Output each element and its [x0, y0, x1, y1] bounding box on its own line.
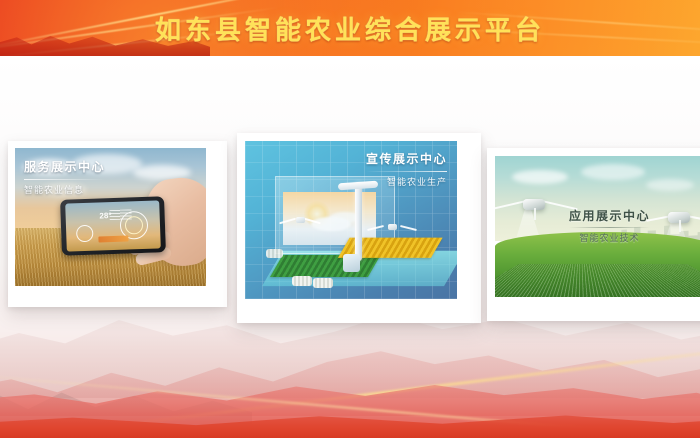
- card-publicity[interactable]: 宣传展示中心 智能农业生产: [237, 133, 481, 323]
- caption-divider: [569, 227, 650, 228]
- phone-screen: 28°: [65, 200, 161, 251]
- card-application-title: 应用展示中心: [569, 210, 650, 224]
- card-application-image: 应用展示中心 智能农业技术: [495, 156, 700, 297]
- drone-body: [388, 224, 397, 230]
- card-application-subtitle: 智能农业技术: [569, 231, 650, 244]
- card-service-subtitle: 智能农业信息: [24, 183, 105, 196]
- header-banner: 如东县智能农业综合展示平台: [0, 0, 700, 56]
- hay-bale: [266, 249, 283, 258]
- hud-chip: [98, 235, 128, 242]
- hud-temperature: 28°: [99, 210, 111, 219]
- drone-icon: [287, 214, 313, 226]
- caption-divider: [24, 179, 105, 180]
- page-title: 如东县智能农业综合展示平台: [0, 0, 700, 56]
- caption-divider: [366, 171, 447, 172]
- card-publicity-title: 宣传展示中心: [366, 153, 447, 167]
- drone-icon: [376, 220, 408, 234]
- water-tank: [343, 254, 360, 272]
- drone-leg: [679, 220, 681, 232]
- card-service[interactable]: 28° 服务展示中心 智能农业信息: [8, 141, 227, 307]
- irrigation-pole: [355, 182, 362, 261]
- card-application-caption: 应用展示中心 智能农业技术: [569, 210, 650, 245]
- card-service-image: 28° 服务展示中心 智能农业信息: [15, 148, 206, 286]
- hud-bars-icon: [109, 209, 131, 220]
- card-application[interactable]: 应用展示中心 智能农业技术: [487, 148, 700, 321]
- crop-row-green: [270, 255, 380, 277]
- card-service-caption: 服务展示中心 智能农业信息: [24, 161, 105, 196]
- drone-body: [296, 217, 305, 223]
- presentation-stage: 如东县智能农业综合展示平台 28°: [0, 0, 700, 438]
- card-publicity-subtitle: 智能农业生产: [366, 175, 447, 188]
- drone-leg: [534, 208, 536, 220]
- hud-ring-small-icon: [76, 224, 94, 242]
- card-service-title: 服务展示中心: [24, 161, 105, 175]
- hay-bale: [292, 276, 312, 286]
- cloud-icon: [646, 179, 694, 191]
- card-publicity-caption: 宣传展示中心 智能农业生产: [366, 153, 447, 188]
- drone-icon: [656, 204, 700, 230]
- drone-icon: [504, 187, 564, 221]
- card-publicity-image: 宣传展示中心 智能农业生产: [245, 141, 457, 299]
- hay-bale: [313, 278, 333, 288]
- smartphone-illustration: 28°: [60, 196, 166, 256]
